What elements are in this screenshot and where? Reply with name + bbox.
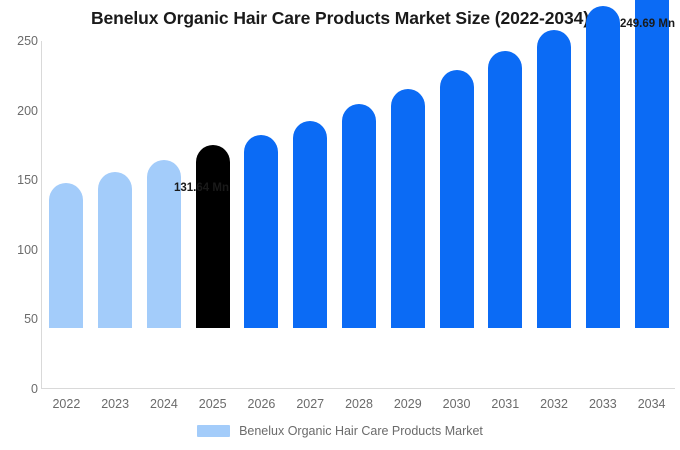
bar-2030[interactable] (440, 70, 474, 328)
legend-label: Benelux Organic Hair Care Products Marke… (239, 424, 483, 438)
bar-2031[interactable] (488, 51, 522, 328)
x-tick-label-2030: 2030 (443, 397, 471, 411)
chart-legend: Benelux Organic Hair Care Products Marke… (0, 424, 680, 438)
x-tick-label-2029: 2029 (394, 397, 422, 411)
bar-2028[interactable] (342, 104, 376, 328)
bar-2022[interactable] (49, 183, 83, 328)
y-tick-label: 0 (4, 382, 38, 396)
data-label-2025: 131.64 Mn (174, 182, 229, 194)
bar-2026[interactable] (244, 135, 278, 328)
bar-2034[interactable] (635, 0, 669, 328)
bar-2025[interactable] (196, 145, 230, 328)
x-tick-label-2022: 2022 (52, 397, 80, 411)
legend-swatch-icon (197, 425, 230, 437)
bar-2033[interactable] (586, 6, 620, 328)
x-tick-label-2034: 2034 (638, 397, 666, 411)
data-label-2034: 249.69 Mn (620, 18, 675, 30)
y-tick-label: 100 (4, 243, 38, 257)
y-tick-label: 50 (4, 312, 38, 326)
x-tick-label-2023: 2023 (101, 397, 129, 411)
x-tick-label-2024: 2024 (150, 397, 178, 411)
y-tick-label: 250 (4, 34, 38, 48)
bar-2027[interactable] (293, 121, 327, 328)
x-tick-label-2027: 2027 (296, 397, 324, 411)
y-tick-label: 150 (4, 173, 38, 187)
x-tick-label-2032: 2032 (540, 397, 568, 411)
y-axis-tick-labels: 050100150200250 (0, 0, 38, 450)
x-tick-label-2031: 2031 (491, 397, 519, 411)
x-tick-label-2026: 2026 (248, 397, 276, 411)
bar-2023[interactable] (98, 172, 132, 328)
x-tick-label-2033: 2033 (589, 397, 617, 411)
x-tick-label-2028: 2028 (345, 397, 373, 411)
bar-series (42, 0, 676, 389)
bar-2029[interactable] (391, 89, 425, 328)
bar-2032[interactable] (537, 30, 571, 328)
chart-container: Benelux Organic Hair Care Products Marke… (0, 0, 680, 450)
y-tick-label: 200 (4, 104, 38, 118)
x-tick-label-2025: 2025 (199, 397, 227, 411)
